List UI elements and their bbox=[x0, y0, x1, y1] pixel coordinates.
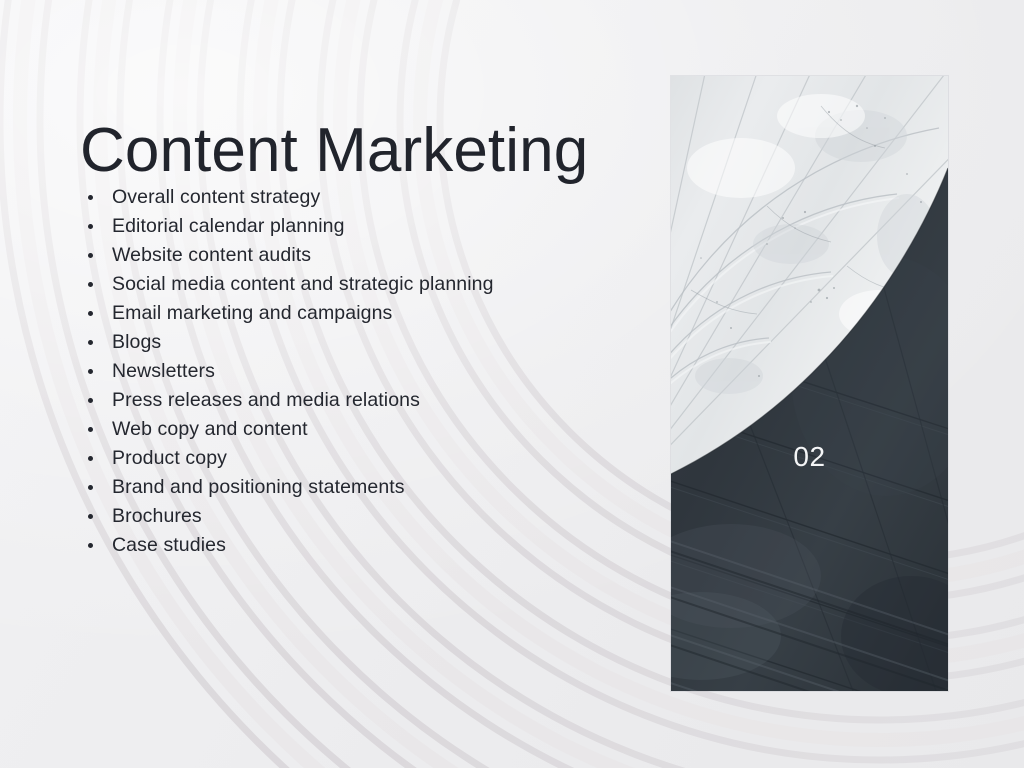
list-item-label: Email marketing and campaigns bbox=[112, 302, 392, 324]
list-item-label: Brand and positioning statements bbox=[112, 476, 405, 498]
bullet-list: Overall content strategy Editorial calen… bbox=[80, 183, 640, 560]
text-content-column: Content Marketing Overall content strate… bbox=[0, 0, 660, 768]
bullet-dot-icon bbox=[88, 485, 93, 490]
list-item: Overall content strategy bbox=[80, 183, 640, 212]
list-item-label: Newsletters bbox=[112, 360, 215, 382]
bullet-dot-icon bbox=[88, 195, 93, 200]
bullet-dot-icon bbox=[88, 456, 93, 461]
bullet-dot-icon bbox=[88, 311, 93, 316]
list-item: Press releases and media relations bbox=[80, 386, 640, 415]
bullet-dot-icon bbox=[88, 514, 93, 519]
list-item-label: Case studies bbox=[112, 534, 226, 556]
list-item: Product copy bbox=[80, 444, 640, 473]
bullet-dot-icon bbox=[88, 282, 93, 287]
list-item: Newsletters bbox=[80, 357, 640, 386]
bullet-dot-icon bbox=[88, 340, 93, 345]
list-item-label: Overall content strategy bbox=[112, 186, 320, 208]
list-item-label: Social media content and strategic plann… bbox=[112, 273, 494, 295]
list-item-label: Editorial calendar planning bbox=[112, 215, 345, 237]
list-item: Editorial calendar planning bbox=[80, 212, 640, 241]
list-item-label: Product copy bbox=[112, 447, 227, 469]
list-item: Social media content and strategic plann… bbox=[80, 270, 640, 299]
list-item: Website content audits bbox=[80, 241, 640, 270]
list-item-label: Brochures bbox=[112, 505, 202, 527]
bullet-dot-icon bbox=[88, 398, 93, 403]
list-item: Web copy and content bbox=[80, 415, 640, 444]
bullet-dot-icon bbox=[88, 427, 93, 432]
list-item: Blogs bbox=[80, 328, 640, 357]
list-item: Case studies bbox=[80, 531, 640, 560]
list-item: Brand and positioning statements bbox=[80, 473, 640, 502]
bullet-dot-icon bbox=[88, 253, 93, 258]
page-title: Content Marketing bbox=[80, 118, 588, 183]
list-item-label: Blogs bbox=[112, 331, 161, 353]
list-item: Email marketing and campaigns bbox=[80, 299, 640, 328]
list-item-label: Web copy and content bbox=[112, 418, 308, 440]
list-item-label: Website content audits bbox=[112, 244, 311, 266]
bullet-dot-icon bbox=[88, 369, 93, 374]
list-item: Brochures bbox=[80, 502, 640, 531]
slide-image-panel: 02 bbox=[671, 76, 948, 691]
bullet-dot-icon bbox=[88, 543, 93, 548]
slide-canvas: Content Marketing Overall content strate… bbox=[0, 0, 1024, 768]
list-item-label: Press releases and media relations bbox=[112, 389, 420, 411]
bullet-dot-icon bbox=[88, 224, 93, 229]
